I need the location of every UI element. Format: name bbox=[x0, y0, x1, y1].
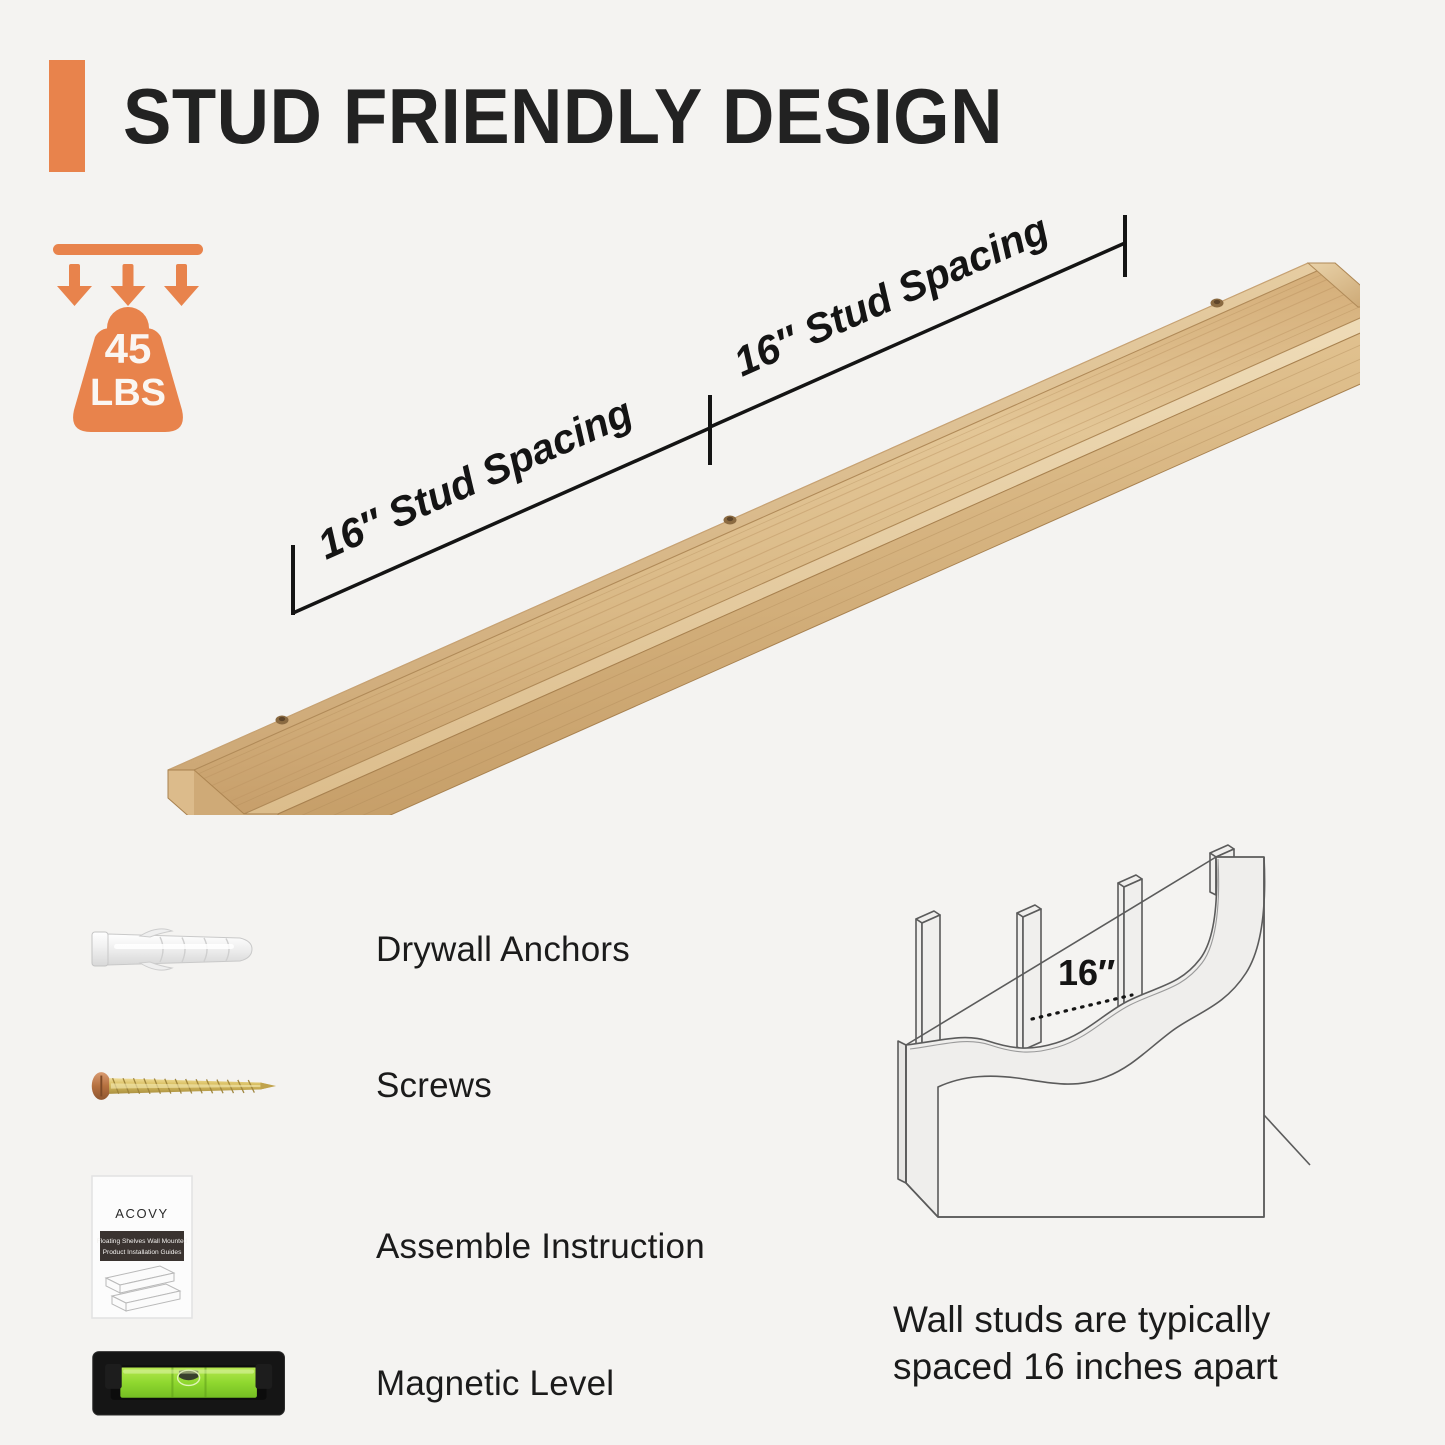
drywall-anchor-icon bbox=[90, 920, 290, 980]
accessories-list: Drywall Anchors bbox=[90, 900, 810, 1445]
shelf-hero-illustration: 16″ Stud Spacing 16″ Stud Spacing bbox=[130, 215, 1360, 815]
list-item: ACOVY Floating Shelves Wall Mounted Prod… bbox=[90, 1172, 810, 1322]
floor-lines bbox=[938, 1115, 1310, 1217]
accessory-label: Assemble Instruction bbox=[376, 1227, 705, 1267]
accessory-label: Drywall Anchors bbox=[376, 930, 630, 970]
wall-stud bbox=[1118, 875, 1142, 1013]
measure-label: 16″ bbox=[1058, 952, 1115, 993]
screw-icon bbox=[90, 1064, 290, 1108]
list-item: Magnetic Level bbox=[90, 1334, 810, 1434]
stud-spacing-label-text: 16″ Stud Spacing bbox=[727, 215, 1055, 385]
manual-brand: ACOVY bbox=[115, 1206, 169, 1221]
page-title: STUD FRIENDLY DESIGN bbox=[123, 77, 1003, 155]
screw-hole bbox=[1211, 299, 1224, 308]
manual-subtitle-2: Product Installation Guides bbox=[103, 1249, 183, 1256]
orange-accent-bar bbox=[49, 60, 85, 172]
infographic-page: STUD FRIENDLY DESIGN 45 bbox=[0, 0, 1445, 1445]
wall-stud bbox=[1017, 905, 1041, 1050]
list-item: Drywall Anchors bbox=[90, 900, 810, 1000]
accessory-label: Screws bbox=[376, 1066, 492, 1106]
accessory-label: Magnetic Level bbox=[376, 1364, 614, 1404]
screw-hole bbox=[276, 716, 289, 725]
instruction-manual-icon: ACOVY Floating Shelves Wall Mounted Prod… bbox=[90, 1174, 290, 1320]
header: STUD FRIENDLY DESIGN bbox=[49, 60, 1069, 172]
magnetic-level-icon bbox=[90, 1329, 290, 1439]
drywall-sheet bbox=[898, 857, 1265, 1217]
list-item: Screws bbox=[90, 1036, 810, 1136]
wall-stud-diagram: 16″ bbox=[880, 835, 1370, 1285]
caption-line-1: Wall studs are typically bbox=[893, 1296, 1363, 1343]
manual-subtitle-1: Floating Shelves Wall Mounted bbox=[97, 1238, 188, 1245]
down-arrow-icon bbox=[57, 264, 92, 306]
stud-spacing-label-text: 16″ Stud Spacing bbox=[311, 388, 639, 568]
wall-stud bbox=[916, 911, 940, 1050]
dimension-label-right: 16″ Stud Spacing bbox=[727, 215, 1055, 385]
dimension-label-left: 16″ Stud Spacing bbox=[311, 388, 639, 568]
wall-diagram-caption: Wall studs are typically spaced 16 inche… bbox=[893, 1296, 1363, 1391]
screw-hole bbox=[724, 516, 737, 525]
caption-line-2: spaced 16 inches apart bbox=[893, 1343, 1363, 1390]
